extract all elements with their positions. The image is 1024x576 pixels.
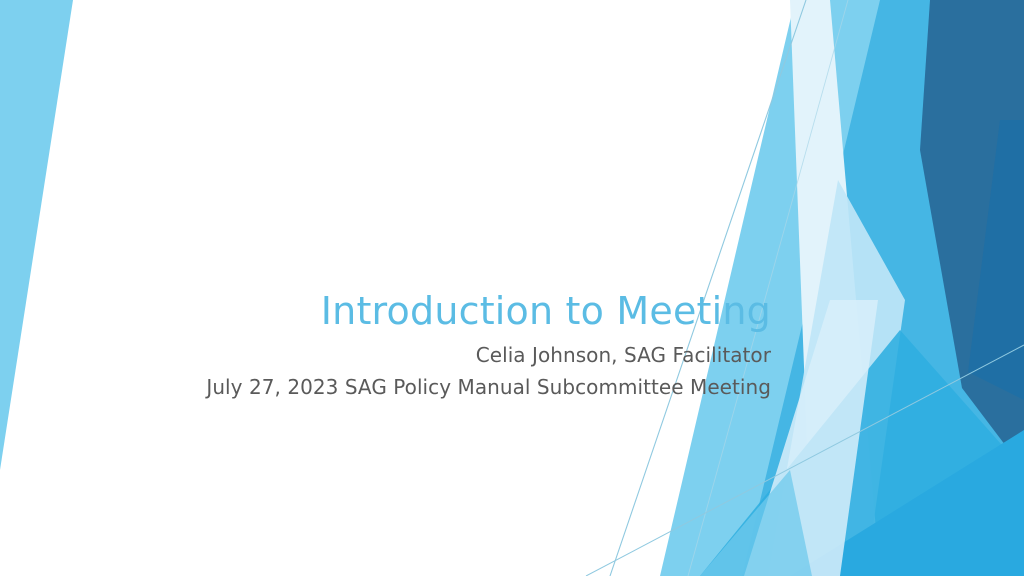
- presentation-slide: Introduction to Meeting Celia Johnson, S…: [0, 0, 1024, 576]
- subtitle-meeting: July 27, 2023 SAG Policy Manual Subcommi…: [0, 371, 771, 403]
- page-title: Introduction to Meeting: [0, 290, 771, 339]
- subtitle-presenter: Celia Johnson, SAG Facilitator: [0, 339, 771, 371]
- slide-background-graphics: [0, 0, 1024, 576]
- title-text-block: Introduction to Meeting Celia Johnson, S…: [0, 290, 771, 403]
